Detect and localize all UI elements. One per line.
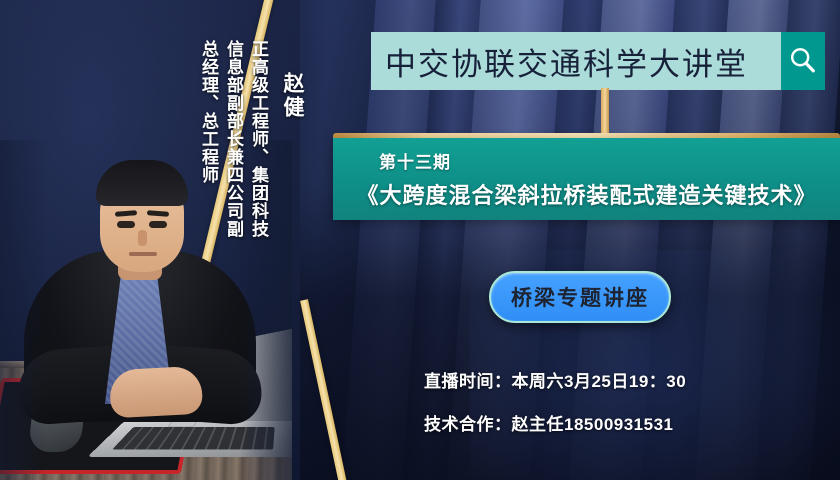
program-issue: 第十三期 (379, 148, 451, 173)
gold-stem-connector (601, 88, 609, 138)
program-title: 《大跨度混合梁斜拉桥装配式建造关键技术》 (343, 178, 830, 210)
search-button[interactable] (781, 32, 825, 90)
topic-button-label: 桥梁专题讲座 (511, 282, 649, 312)
topic-button[interactable]: 桥梁专题讲座 (489, 271, 671, 323)
livestream-poster: 总经理、总工程师 信息部副部长兼四公司副 正高级工程师、集团科技 赵健 中交协联… (0, 0, 840, 480)
header-title-text: 中交协联交通科学大讲堂 (385, 39, 748, 84)
broadcast-time: 直播时间：本周六3月25日19：30 (424, 367, 686, 392)
speaker-title-line-3: 总经理、总工程师 (196, 40, 221, 184)
program-box: 第十三期 《大跨度混合梁斜拉桥装配式建造关键技术》 (333, 138, 840, 220)
laptop-keyboard (87, 421, 292, 457)
speaker-name: 赵健 (277, 72, 307, 120)
speaker-title-line-1: 正高级工程师、集团科技 (246, 40, 271, 238)
speaker-title-line-2: 信息部副部长兼四公司副 (221, 40, 246, 238)
contact-info: 技术合作：赵主任18500931531 (424, 410, 674, 435)
header-title-bar: 中交协联交通科学大讲堂 (371, 32, 825, 90)
search-icon (788, 46, 818, 76)
header-title-plate: 中交协联交通科学大讲堂 (371, 32, 781, 90)
